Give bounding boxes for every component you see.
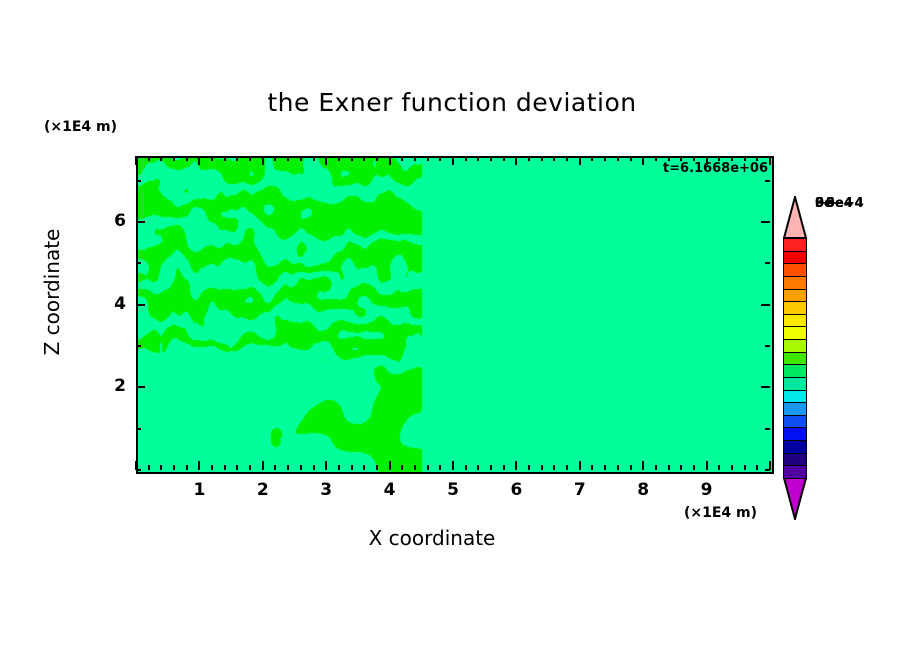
y-tick-right xyxy=(765,345,770,347)
y-tick xyxy=(136,428,141,430)
x-tick-top xyxy=(566,156,568,161)
colorbar-band xyxy=(783,377,807,391)
x-tick xyxy=(566,465,568,470)
colorbar-band xyxy=(783,289,807,303)
x-tick-top xyxy=(503,156,505,161)
x-tick xyxy=(338,465,340,470)
x-tick-label: 8 xyxy=(628,480,658,500)
x-tick xyxy=(744,465,746,470)
x-tick-top xyxy=(630,156,632,161)
x-tick xyxy=(224,465,226,470)
x-tick xyxy=(693,465,695,470)
x-tick xyxy=(401,465,403,470)
x-tick xyxy=(515,461,517,470)
colorbar-band xyxy=(783,314,807,328)
colorbar-tick-label: −9e−4 xyxy=(815,196,864,211)
x-tick-top xyxy=(287,156,289,161)
x-tick xyxy=(477,465,479,470)
x-tick-top xyxy=(414,156,416,161)
x-tick-top xyxy=(236,156,238,161)
y-tick-label: 2 xyxy=(96,376,126,396)
colorbar-band xyxy=(783,339,807,353)
y-tick-right xyxy=(761,386,770,388)
x-tick-top xyxy=(579,156,581,165)
contour-field-canvas xyxy=(138,158,772,472)
y-tick-right xyxy=(761,221,770,223)
x-tick xyxy=(287,465,289,470)
x-tick xyxy=(439,465,441,470)
x-tick-top xyxy=(477,156,479,161)
x-tick xyxy=(706,461,708,470)
colorbar-under-arrow xyxy=(783,478,807,520)
y-tick-right xyxy=(765,180,770,182)
x-tick xyxy=(503,465,505,470)
colorbar-band xyxy=(783,402,807,416)
x-tick-top xyxy=(363,156,365,161)
colorbar-band xyxy=(783,352,807,366)
colorbar-band xyxy=(783,326,807,340)
x-tick-top xyxy=(617,156,619,161)
colorbar-band xyxy=(783,415,807,429)
x-tick xyxy=(211,465,213,470)
timestamp-label: t=6.1668e+06 xyxy=(663,161,768,176)
x-tick-top xyxy=(427,156,429,161)
y-tick-label: 6 xyxy=(96,211,126,231)
x-tick-top xyxy=(262,156,264,165)
x-tick xyxy=(541,465,543,470)
x-tick-top xyxy=(325,156,327,165)
y-tick xyxy=(136,345,141,347)
x-tick-top xyxy=(313,156,315,161)
colorbar-over-arrow xyxy=(783,196,807,238)
x-tick-top xyxy=(769,156,771,165)
y-tick xyxy=(136,180,141,182)
colorbar-band xyxy=(783,238,807,252)
x-tick-label: 7 xyxy=(565,480,595,500)
x-tick xyxy=(642,461,644,470)
x-tick-label: 5 xyxy=(438,480,468,500)
x-tick-top xyxy=(515,156,517,165)
x-tick-top xyxy=(338,156,340,161)
x-tick xyxy=(186,465,188,470)
y-axis-title: Z coordinate xyxy=(40,212,64,372)
colorbar-band xyxy=(783,440,807,454)
x-tick xyxy=(389,461,391,470)
colorbar-band xyxy=(783,465,807,479)
y-tick xyxy=(136,386,145,388)
x-tick-label: 1 xyxy=(184,480,214,500)
x-tick xyxy=(490,465,492,470)
colorbar-band xyxy=(783,251,807,265)
colorbar-band xyxy=(783,276,807,290)
x-tick xyxy=(731,465,733,470)
colorbar-band xyxy=(783,427,807,441)
x-tick xyxy=(262,461,264,470)
x-tick-top xyxy=(211,156,213,161)
x-tick-top xyxy=(528,156,530,161)
x-tick xyxy=(452,461,454,470)
x-tick xyxy=(465,465,467,470)
y-axis-unit-label: (×1E4 m) xyxy=(44,119,117,135)
x-tick-top xyxy=(541,156,543,161)
x-tick-label: 6 xyxy=(501,480,531,500)
x-tick-top xyxy=(160,156,162,161)
x-axis-unit-label: (×1E4 m) xyxy=(684,505,757,521)
y-tick-right xyxy=(765,262,770,264)
colorbar-band xyxy=(783,453,807,467)
x-tick xyxy=(376,465,378,470)
x-tick-top xyxy=(351,156,353,161)
chart-title: the Exner function deviation xyxy=(0,88,904,117)
x-tick-top xyxy=(274,156,276,161)
x-tick xyxy=(427,465,429,470)
y-tick xyxy=(136,304,145,306)
y-tick-label: 4 xyxy=(96,294,126,314)
x-tick-top xyxy=(198,156,200,165)
x-tick xyxy=(249,465,251,470)
x-tick-label: 9 xyxy=(692,480,722,500)
y-tick-right xyxy=(761,304,770,306)
x-tick xyxy=(630,465,632,470)
x-tick xyxy=(756,465,758,470)
x-tick-top xyxy=(389,156,391,165)
x-tick xyxy=(680,465,682,470)
x-tick-top xyxy=(135,156,137,165)
x-tick-top xyxy=(465,156,467,161)
x-tick-top xyxy=(553,156,555,161)
x-tick-top xyxy=(591,156,593,161)
x-tick-label: 3 xyxy=(311,480,341,500)
x-tick-top xyxy=(148,156,150,161)
x-tick xyxy=(313,465,315,470)
y-tick xyxy=(136,221,145,223)
colorbar-band xyxy=(783,263,807,277)
x-tick-label: 2 xyxy=(248,480,278,500)
x-axis-title: X coordinate xyxy=(262,526,602,550)
x-tick-label: 4 xyxy=(375,480,405,500)
y-tick-right xyxy=(765,428,770,430)
x-tick xyxy=(579,461,581,470)
x-tick xyxy=(160,465,162,470)
x-tick-top xyxy=(300,156,302,161)
x-tick xyxy=(173,465,175,470)
x-tick-top xyxy=(401,156,403,161)
x-tick xyxy=(198,461,200,470)
y-tick xyxy=(136,469,141,471)
x-tick xyxy=(604,465,606,470)
x-tick-top xyxy=(452,156,454,165)
x-tick-top xyxy=(655,156,657,161)
colorbar-band xyxy=(783,301,807,315)
x-tick-top xyxy=(642,156,644,165)
y-tick-right xyxy=(765,469,770,471)
x-tick-top xyxy=(173,156,175,161)
x-tick xyxy=(363,465,365,470)
x-tick-top xyxy=(490,156,492,161)
x-tick xyxy=(591,465,593,470)
x-tick xyxy=(274,465,276,470)
colorbar-band xyxy=(783,390,807,404)
x-tick xyxy=(148,465,150,470)
x-tick xyxy=(300,465,302,470)
x-tick-top xyxy=(186,156,188,161)
x-tick xyxy=(668,465,670,470)
colorbar: 9e−46e−43e−40−3e−4−6e−4−9e−4 xyxy=(783,196,807,520)
x-tick-top xyxy=(439,156,441,161)
x-tick xyxy=(617,465,619,470)
contour-plot-area: t=6.1668e+06 xyxy=(136,156,774,474)
x-tick xyxy=(325,461,327,470)
x-tick xyxy=(414,465,416,470)
x-tick xyxy=(553,465,555,470)
x-tick-top xyxy=(249,156,251,161)
x-tick xyxy=(655,465,657,470)
x-tick xyxy=(718,465,720,470)
colorbar-band xyxy=(783,364,807,378)
x-tick xyxy=(351,465,353,470)
x-tick-top xyxy=(604,156,606,161)
x-tick-top xyxy=(376,156,378,161)
y-tick xyxy=(136,262,141,264)
x-tick-top xyxy=(224,156,226,161)
x-tick xyxy=(528,465,530,470)
x-tick xyxy=(236,465,238,470)
